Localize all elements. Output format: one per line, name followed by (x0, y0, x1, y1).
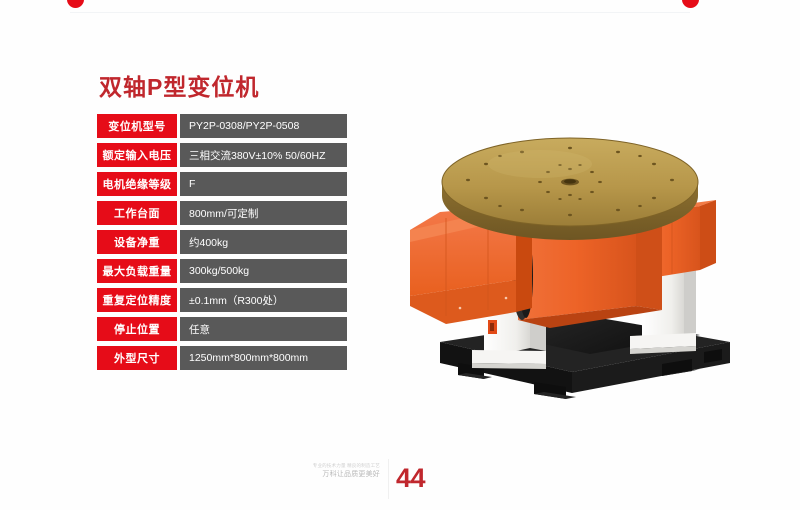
right-red-dot-icon (682, 0, 699, 8)
spec-label: 电机绝缘等级 (97, 172, 177, 196)
page-footer: 专业的技术力量 精良的制造工艺 万科让品质更美好 44 (0, 455, 800, 510)
spec-value: F (180, 172, 347, 196)
table-row: 设备净重 约400kg (97, 230, 347, 254)
footer-tagline-main: 万科让品质更美好 (322, 471, 380, 478)
table-row: 额定输入电压 三相交流380V±10% 50/60HZ (97, 143, 347, 167)
spec-value: PY2P-0308/PY2P-0508 (180, 114, 347, 138)
footer-divider (388, 459, 389, 499)
spec-value: 300kg/500kg (180, 259, 347, 283)
gold-rotary-table (442, 138, 698, 240)
catalog-page: 双轴P型变位机 变位机型号 PY2P-0308/PY2P-0508 额定输入电压… (0, 0, 800, 510)
spec-label: 停止位置 (97, 317, 177, 341)
spec-label: 设备净重 (97, 230, 177, 254)
spec-value: 800mm/可定制 (180, 201, 347, 225)
page-title: 双轴P型变位机 (99, 68, 259, 102)
spec-value: 约400kg (180, 230, 347, 254)
table-row: 电机绝缘等级 F (97, 172, 347, 196)
spec-label: 额定输入电压 (97, 143, 177, 167)
footer-tagline-small: 专业的技术力量 精良的制造工艺 (296, 463, 380, 470)
spec-label: 外型尺寸 (97, 346, 177, 370)
top-hairline (70, 12, 690, 13)
spec-value: 任意 (180, 317, 347, 341)
spec-label: 变位机型号 (97, 114, 177, 138)
spec-label: 重复定位精度 (97, 288, 177, 312)
spec-value: 1250mm*800mm*800mm (180, 346, 347, 370)
table-row: 工作台面 800mm/可定制 (97, 201, 347, 225)
spec-label: 最大负载重量 (97, 259, 177, 283)
table-row: 重复定位精度 ±0.1mm（R300处） (97, 288, 347, 312)
spec-value: 三相交流380V±10% 50/60HZ (180, 143, 347, 167)
spec-label: 工作台面 (97, 201, 177, 225)
table-row: 变位机型号 PY2P-0308/PY2P-0508 (97, 114, 347, 138)
table-row: 停止位置 任意 (97, 317, 347, 341)
spec-value: ±0.1mm（R300处） (180, 288, 347, 312)
page-number: 44 (396, 463, 425, 494)
left-red-dot-icon (67, 0, 84, 8)
footer-tagline: 专业的技术力量 精良的制造工艺 万科让品质更美好 (296, 463, 380, 480)
specification-table: 变位机型号 PY2P-0308/PY2P-0508 额定输入电压 三相交流380… (97, 114, 347, 375)
product-image (400, 120, 760, 420)
table-row: 外型尺寸 1250mm*800mm*800mm (97, 346, 347, 370)
table-row: 最大负载重量 300kg/500kg (97, 259, 347, 283)
